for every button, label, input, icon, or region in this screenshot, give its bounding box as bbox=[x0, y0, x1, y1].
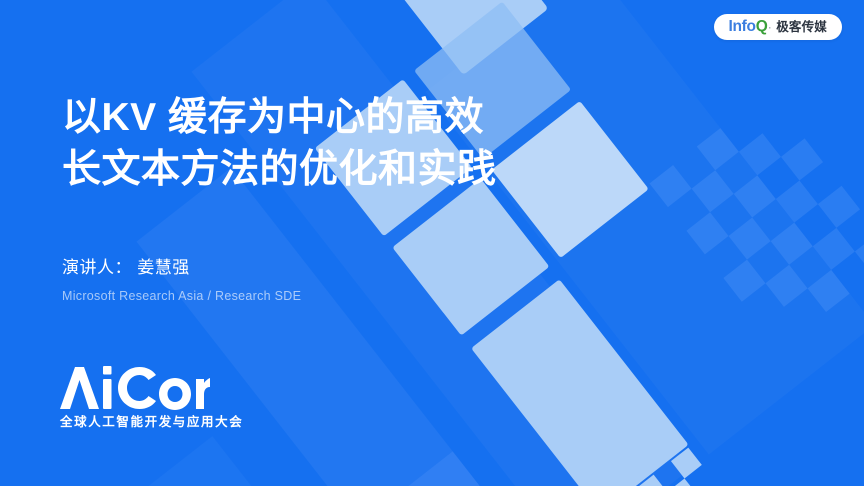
speaker-info: 演讲人： 姜慧强 Microsoft Research Asia / Resea… bbox=[62, 256, 301, 306]
infoq-dot-icon: · bbox=[768, 24, 771, 33]
aicon-logo-icon bbox=[58, 366, 210, 410]
slide-title: 以KV 缓存为中心的高效 长文本方法的优化和实践 bbox=[62, 92, 582, 196]
speaker-affiliation: Microsoft Research Asia / Research SDE bbox=[62, 286, 301, 306]
infoq-chinese-name: 极客传媒 bbox=[776, 21, 827, 34]
infoq-info-text: Info bbox=[729, 19, 756, 35]
title-line-2: 长文本方法的优化和实践 bbox=[62, 144, 582, 196]
infoq-q-text: Q bbox=[756, 19, 768, 35]
aicon-brand: 全球人工智能开发与应用大会 bbox=[58, 366, 243, 429]
title-line-1: 以KV 缓存为中心的高效 bbox=[62, 92, 582, 144]
presentation-slide: InfoQ· 极客传媒 以KV 缓存为中心的高效 长文本方法的优化和实践 演讲人… bbox=[0, 0, 864, 486]
speaker-name: 演讲人： 姜慧强 bbox=[62, 256, 301, 280]
infoq-logo-text: InfoQ· bbox=[729, 19, 772, 35]
aicon-tagline: 全球人工智能开发与应用大会 bbox=[60, 416, 243, 429]
infoq-badge[interactable]: InfoQ· 极客传媒 bbox=[714, 14, 843, 40]
